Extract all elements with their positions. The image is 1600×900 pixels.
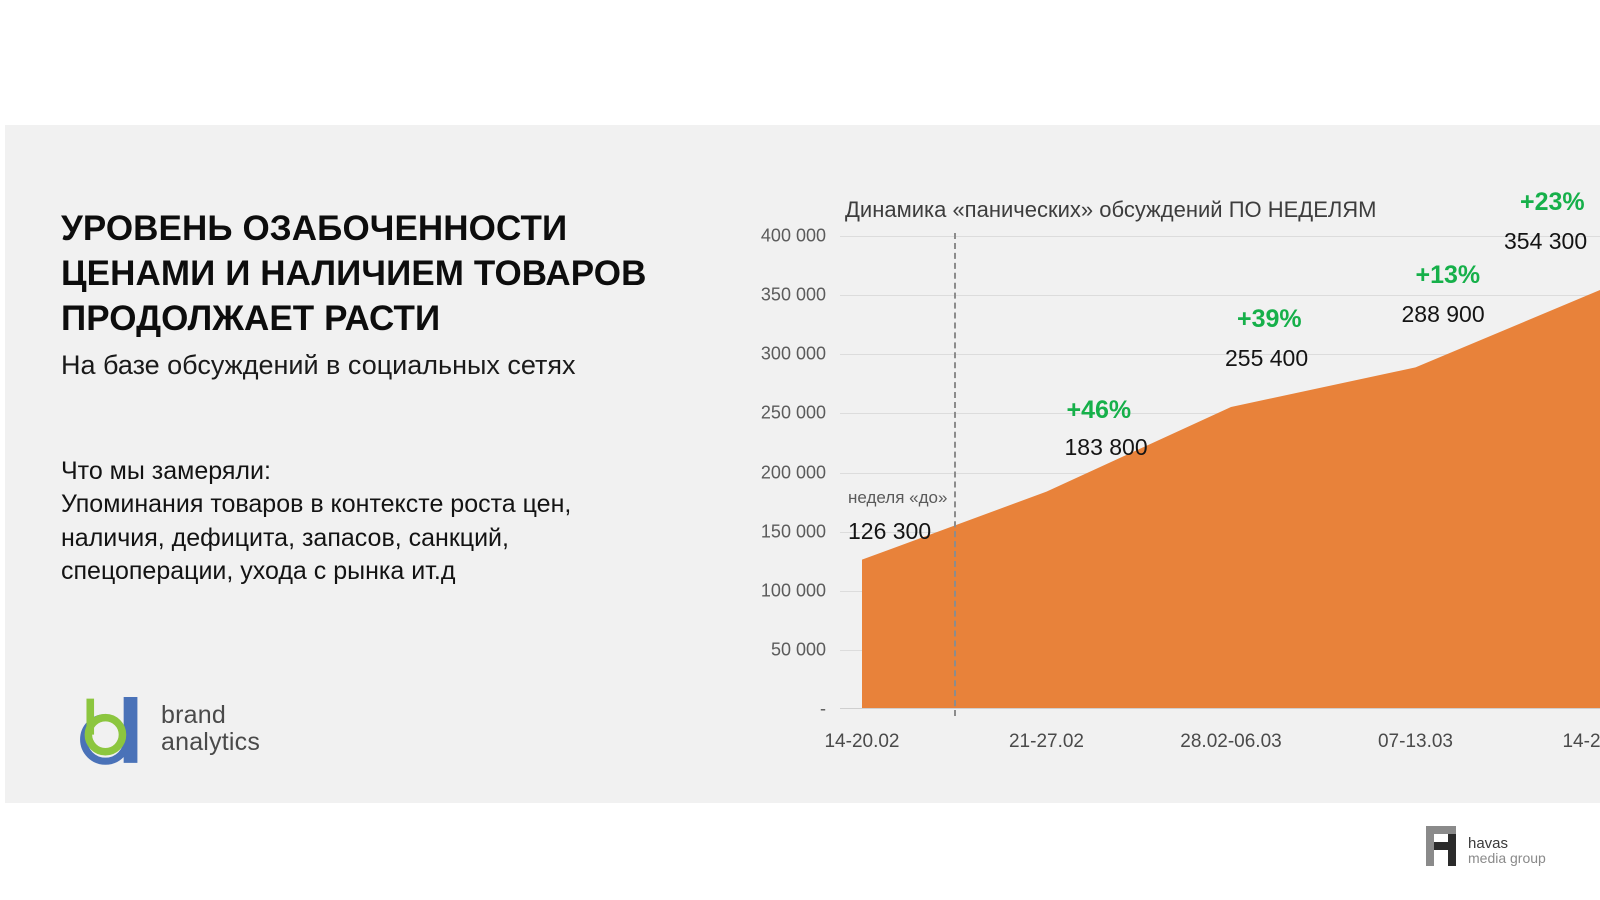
data-value-label: 288 900 xyxy=(1402,301,1485,328)
data-value-label: 183 800 xyxy=(1065,434,1148,461)
y-axis-tick-label: 100 000 xyxy=(761,580,826,601)
y-axis-tick-label: - xyxy=(820,699,826,720)
x-axis-tick-label: 14-20.03 xyxy=(1562,731,1600,753)
brand-analytics-mark-icon xyxy=(75,693,151,765)
brand-logo-line1: brand xyxy=(161,702,260,729)
y-axis-tick-label: 300 000 xyxy=(761,344,826,365)
data-value-label: 126 300 xyxy=(848,518,931,545)
x-axis-tick-label: 14-20.02 xyxy=(824,731,899,753)
methodology-title: Что мы замеряли: xyxy=(61,455,741,488)
growth-percent-label: +39% xyxy=(1237,305,1302,334)
methodology-block: Что мы замеряли: Упоминания товаров в ко… xyxy=(61,455,741,588)
growth-percent-label: +23% xyxy=(1520,188,1585,217)
chart-plot-area: -50 000100 000150 000200 000250 000300 0… xyxy=(840,236,1600,709)
methodology-body: Упоминания товаров в контексте роста цен… xyxy=(61,488,741,588)
y-axis-tick-label: 250 000 xyxy=(761,403,826,424)
data-value-label: 255 400 xyxy=(1225,345,1308,372)
data-value-label: 354 300 xyxy=(1504,228,1587,255)
havas-wordmark-line2: media group xyxy=(1468,850,1546,866)
page-subtitle: На базе обсуждений в социальных сетях xyxy=(61,349,741,383)
headline-block: УРОВЕНЬ ОЗАБОЧЕННОСТИ ЦЕНАМИ И НАЛИЧИЕМ … xyxy=(61,207,741,383)
week-before-divider xyxy=(954,233,956,716)
week-before-note: неделя «до» xyxy=(848,488,947,508)
y-axis-tick-label: 400 000 xyxy=(761,226,826,247)
weekly-dynamics-chart: Динамика «панических» обсуждений ПО НЕДЕ… xyxy=(750,125,1600,803)
growth-percent-label: +13% xyxy=(1416,261,1481,290)
x-axis-tick-label: 28.02-06.03 xyxy=(1180,731,1281,753)
y-axis-tick-label: 50 000 xyxy=(771,639,826,660)
y-axis-tick-label: 350 000 xyxy=(761,285,826,306)
havas-media-group-logo: havas media group xyxy=(1424,812,1554,868)
y-axis-tick-label: 150 000 xyxy=(761,521,826,542)
slide-canvas: УРОВЕНЬ ОЗАБОЧЕННОСТИ ЦЕНАМИ И НАЛИЧИЕМ … xyxy=(5,125,1600,803)
x-axis-tick-label: 07-13.03 xyxy=(1378,731,1453,753)
x-axis-tick-label: 21-27.02 xyxy=(1009,731,1084,753)
chart-title: Динамика «панических» обсуждений ПО НЕДЕ… xyxy=(845,197,1377,223)
brand-analytics-logo: brand analytics xyxy=(75,690,345,768)
page-title: УРОВЕНЬ ОЗАБОЧЕННОСТИ ЦЕНАМИ И НАЛИЧИЕМ … xyxy=(61,207,741,341)
growth-percent-label: +46% xyxy=(1067,396,1132,425)
brand-analytics-wordmark: brand analytics xyxy=(161,702,260,756)
brand-logo-line2: analytics xyxy=(161,729,260,756)
y-axis-tick-label: 200 000 xyxy=(761,462,826,483)
